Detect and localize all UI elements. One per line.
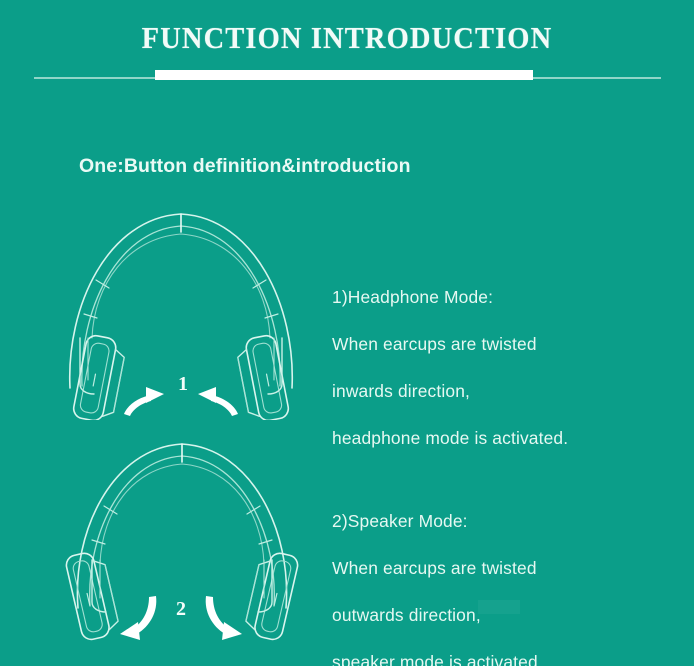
desc-line: When earcups are twisted xyxy=(332,557,543,581)
desc-line: speaker mode is activated. xyxy=(332,651,543,666)
title-divider-accent xyxy=(155,70,533,80)
compression-artifact xyxy=(478,600,520,614)
desc-line: inwards direction, xyxy=(332,380,568,404)
step-number-2: 2 xyxy=(176,598,186,621)
desc-line: 2)Speaker Mode: xyxy=(332,510,543,534)
header: FUNCTION INTRODUCTION xyxy=(0,0,694,92)
page-title: FUNCTION INTRODUCTION xyxy=(28,20,666,56)
arrow-inward-right xyxy=(198,387,238,416)
arrow-outward-right xyxy=(206,596,242,640)
speaker-mode-description: 2)Speaker Mode: When earcups are twisted… xyxy=(332,486,543,666)
step-number-1: 1 xyxy=(178,373,188,396)
arrow-outward-left xyxy=(120,596,156,640)
subtitle: One:Button definition&introduction xyxy=(79,155,411,178)
arrow-inward-left xyxy=(124,387,164,416)
desc-line: 1)Headphone Mode: xyxy=(332,286,568,310)
function-introduction-slide: FUNCTION INTRODUCTION One:Button definit… xyxy=(0,0,694,666)
desc-line: When earcups are twisted xyxy=(332,333,568,357)
headphone-outward-illustration xyxy=(36,424,326,656)
